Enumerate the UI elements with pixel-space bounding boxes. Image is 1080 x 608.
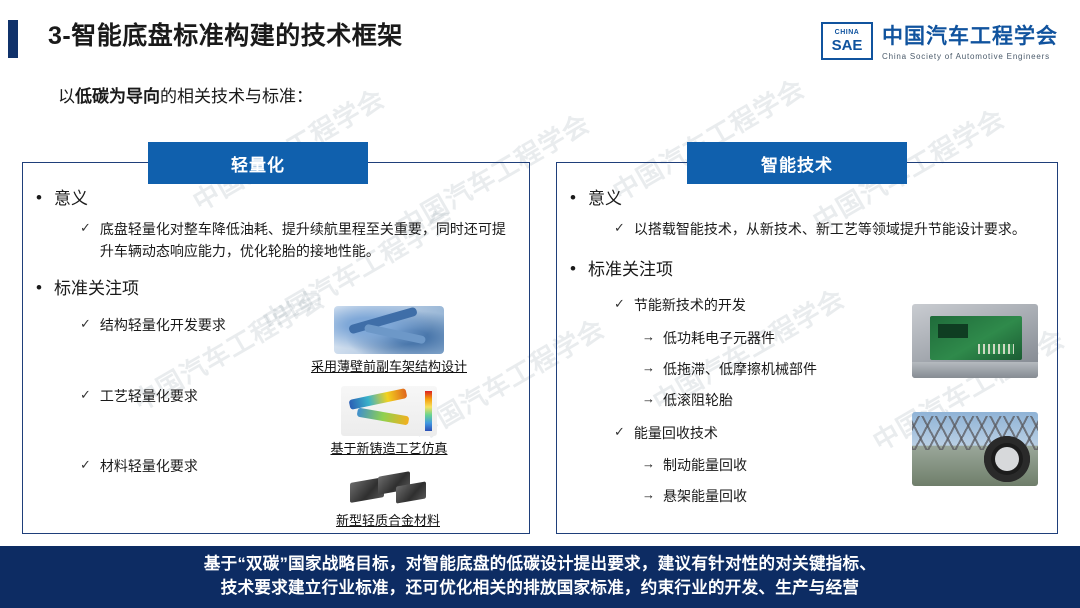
low-rolling-resistance-tyre-photo xyxy=(912,412,1038,486)
list-item-label: 工艺轻量化要求 xyxy=(100,386,198,408)
sub-list-item-label: 悬架能量回收 xyxy=(663,486,747,506)
footer-line2: 技术要求建立行业标准，还可优化相关的排放国家标准，约束行业的开发、生产与经营 xyxy=(221,577,859,601)
arrow-icon: → xyxy=(642,390,655,408)
image-caption: 基于新铸造工艺仿真 xyxy=(284,438,494,457)
sae-logo-mark: CHINA SAE xyxy=(821,22,873,60)
check-icon: ✓ xyxy=(80,315,91,333)
casting-cae-simulation-image xyxy=(341,386,437,436)
list-item-label: 能量回收技术 xyxy=(634,423,718,445)
bullet-dot: • xyxy=(36,188,42,208)
list-item-label: 底盘轻量化对整车降低油耗、提升续航里程至关重要，同时还可提升车辆动态响应能力，优… xyxy=(100,219,510,262)
tyre-shape xyxy=(984,436,1030,482)
logo-text-en: China Society of Automotive Engineers xyxy=(882,52,1058,61)
list-item-label: 节能新技术的开发 xyxy=(634,295,746,317)
image-ecu-block xyxy=(912,304,1038,378)
list-item-label: 结构轻量化开发要求 xyxy=(100,315,226,337)
list-item-label: 以搭载智能技术，从新技术、新工艺等领域提升节能设计要求。 xyxy=(634,219,1026,241)
logo-mark-line1: CHINA xyxy=(835,29,860,36)
subtitle-prefix: 以 xyxy=(58,87,75,106)
check-icon: ✓ xyxy=(80,219,91,237)
pcb-board xyxy=(930,316,1022,360)
suspension-render-image xyxy=(334,306,444,354)
cae-mesh-lower xyxy=(357,408,410,426)
check-icon: ✓ xyxy=(80,456,91,474)
check-icon: ✓ xyxy=(80,386,91,404)
check-icon: ✓ xyxy=(614,423,625,441)
light-alloy-material-image xyxy=(344,464,432,508)
footer-conclusion: 基于“双碳”国家战略目标，对智能底盘的低碳设计提出要求，建议有针对性的对关键指标… xyxy=(0,546,1080,608)
image-tyre-block xyxy=(912,412,1038,486)
subtitle-suffix: 的相关技术与标准： xyxy=(160,87,313,106)
section-subtitle: 以低碳为导向的相关技术与标准： xyxy=(58,82,313,107)
bullet-heading: 标准关注项 xyxy=(54,278,139,300)
alloy-block xyxy=(396,481,426,503)
arrow-icon: → xyxy=(642,455,655,473)
footer-line1: 基于“双碳”国家战略目标，对智能底盘的低碳设计提出要求，建议有针对性的对关键指标… xyxy=(204,553,876,577)
logo-text-cn: 中国汽车工程学会 xyxy=(882,20,1058,50)
bullet-standard-focus: • 标准关注项 xyxy=(36,278,526,300)
subtitle-bold: 低碳为导向 xyxy=(75,87,160,106)
page-title: 3-智能底盘标准构建的技术框架 xyxy=(48,16,403,52)
logo-mark-line2: SAE xyxy=(832,38,863,53)
list-item: ✓ 以搭载智能技术，从新技术、新工艺等领域提升节能设计要求。 xyxy=(614,219,1034,241)
slide-header: 3-智能底盘标准构建的技术框架 CHINA SAE 中国汽车工程学会 China… xyxy=(0,14,1080,62)
arrow-icon: → xyxy=(642,328,655,346)
ecu-housing xyxy=(912,362,1038,378)
sub-list-item-label: 制动能量回收 xyxy=(663,455,747,475)
image-light-alloy-block: 新型轻质合金材料 xyxy=(288,464,488,529)
bullet-dot: • xyxy=(36,278,42,298)
panel-tab-lightweighting: 轻量化 xyxy=(148,142,368,184)
sub-list-item: → 悬架能量回收 xyxy=(642,486,1050,506)
check-icon: ✓ xyxy=(614,219,625,237)
bullet-standard-focus: • 标准关注项 xyxy=(570,259,1050,281)
sub-list-item: → 低滚阻轮胎 xyxy=(642,390,1050,410)
bullet-heading: 意义 xyxy=(54,188,88,210)
image-caption: 采用薄壁前副车架结构设计 xyxy=(274,356,504,375)
cae-mesh-upper xyxy=(349,388,408,410)
bullet-heading: 标准关注项 xyxy=(588,259,673,281)
bullet-dot: • xyxy=(570,188,576,208)
bullet-dot: • xyxy=(570,259,576,279)
panel-tab-intelligent-tech: 智能技术 xyxy=(687,142,907,184)
bullet-significance: • 意义 xyxy=(36,188,526,210)
arrow-icon: → xyxy=(642,486,655,504)
sub-list-item-label: 低功耗电子元器件 xyxy=(663,328,775,348)
bullet-heading: 意义 xyxy=(588,188,622,210)
bullet-significance: • 意义 xyxy=(570,188,1050,210)
cae-colorbar xyxy=(425,391,432,431)
sub-list-item-label: 低滚阻轮胎 xyxy=(663,390,733,410)
logo-wordmark: 中国汽车工程学会 China Society of Automotive Eng… xyxy=(882,20,1058,61)
list-item: ✓ 底盘轻量化对整车降低油耗、提升续航里程至关重要，同时还可提升车辆动态响应能力… xyxy=(80,219,510,262)
sub-list-item-label: 低拖滞、低摩擦机械部件 xyxy=(663,359,817,379)
check-icon: ✓ xyxy=(614,295,625,313)
image-suspension-render-block: 采用薄壁前副车架结构设计 xyxy=(274,306,504,375)
image-caption: 新型轻质合金材料 xyxy=(288,510,488,529)
list-item-label: 材料轻量化要求 xyxy=(100,456,198,478)
organization-logo: CHINA SAE 中国汽车工程学会 China Society of Auto… xyxy=(821,20,1058,61)
arrow-icon: → xyxy=(642,359,655,377)
ecu-controller-photo xyxy=(912,304,1038,378)
title-accent-bar xyxy=(8,20,18,58)
image-casting-cae-block: 基于新铸造工艺仿真 xyxy=(284,386,494,457)
